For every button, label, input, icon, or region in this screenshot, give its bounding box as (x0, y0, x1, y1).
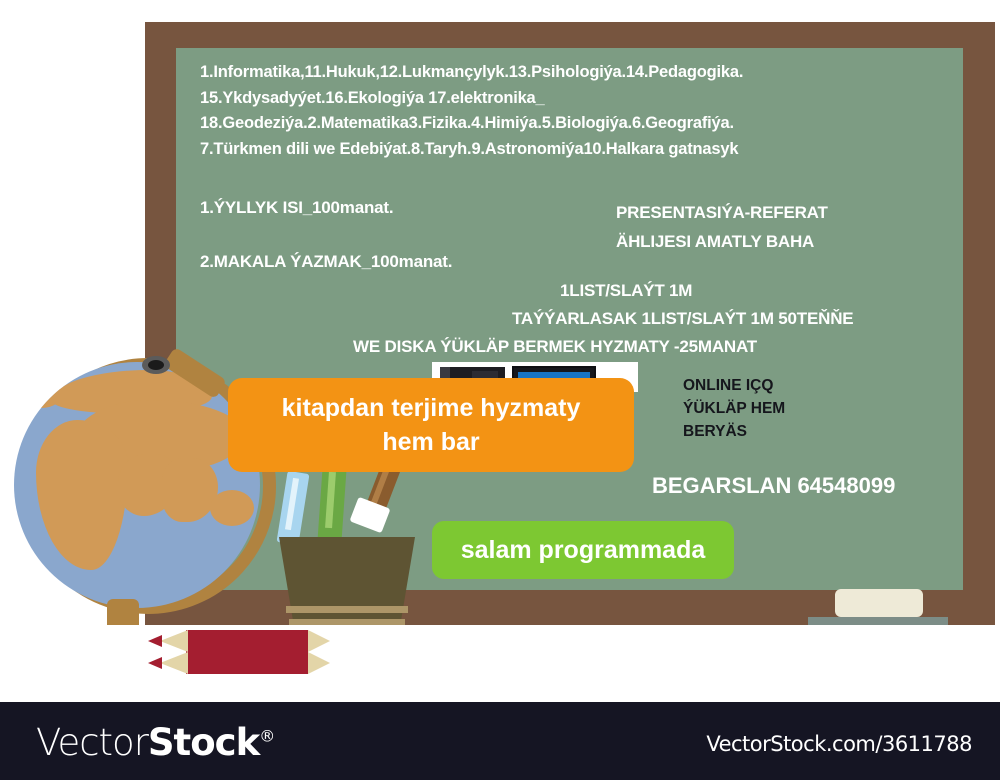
registered-trademark-icon: ® (259, 727, 274, 746)
pencil-end (308, 630, 330, 652)
logo-text-bold: Stock (148, 721, 259, 764)
contact-phone-line: BEGARSLAN 64548099 (652, 473, 895, 499)
orange-callout-line-2: hem bar (382, 425, 479, 459)
orange-callout-line-1: kitapdan terjime hyzmaty (282, 391, 581, 425)
orange-callout-button[interactable]: kitapdan terjime hyzmaty hem bar (228, 378, 634, 472)
logo-text-light: Vector (36, 721, 148, 764)
subject-list: 1.Informatika,11.Hukuk,12.Lukmançylyk.13… (200, 60, 743, 162)
price-line-yyllyk: 1.ÝYLLYK ISI_100manat. (200, 198, 393, 218)
pencil-body (186, 652, 308, 674)
slide-price-line-1: 1LIST/SLAÝT 1M (560, 281, 692, 301)
landmass-southeast-asia (210, 490, 254, 526)
landmass-india (162, 458, 218, 522)
pencil-lead-tip (148, 657, 162, 669)
presentation-line-2: ÄHLIJESI AMATLY BAHA (616, 227, 828, 256)
pencil-end (308, 652, 330, 674)
watermark-url: VectorStock.com/3611788 (706, 732, 972, 756)
online-service-block: ONLINE IÇQ ÝÜKLÄP HEM BERYÄS (683, 374, 785, 443)
subject-list-line-4: 7.Türkmen dili we Edebiýat.8.Taryh.9.Ast… (200, 137, 743, 163)
chalk-piece (835, 589, 923, 617)
watermark-bar: VectorStock® VectorStock.com/3611788 (0, 702, 1000, 780)
presentation-line-1: PRESENTASIÝA-REFERAT (616, 198, 828, 227)
subject-list-line-2: 15.Ykdysadyýet.16.Ekologiýa 17.elektroni… (200, 86, 743, 112)
landmass-africa (36, 420, 128, 570)
online-line-1: ONLINE IÇQ (683, 374, 785, 397)
online-line-2: ÝÜKLÄP HEM (683, 397, 785, 420)
vectorstock-logo: VectorStock® (36, 721, 274, 764)
pencil-body (186, 630, 308, 652)
globe-sphere (14, 362, 260, 608)
online-line-3: BERYÄS (683, 420, 785, 443)
poster-canvas: 1.Informatika,11.Hukuk,12.Lukmançylyk.13… (0, 0, 1000, 780)
pencil-lead-tip (148, 635, 162, 647)
slide-price-line-3: WE DISKA ÝÜKLÄP BERMEK HYZMATY -25MANAT (353, 337, 757, 357)
subject-list-line-3: 18.Geodeziýa.2.Matematika3.Fizika.4.Himi… (200, 111, 743, 137)
slide-price-line-2: TAÝÝARLASAK 1LIST/SLAÝT 1M 50TEŇŇE (512, 309, 853, 329)
red-pencil (148, 630, 334, 652)
globe-axis-hole (148, 360, 164, 370)
pencil-wood-tip (160, 652, 188, 674)
red-pencil (148, 652, 334, 674)
green-callout-label: salam programmada (461, 536, 706, 565)
price-line-makala: 2.MAKALA ÝAZMAK_100manat. (200, 252, 452, 272)
subject-list-line-1: 1.Informatika,11.Hukuk,12.Lukmançylyk.13… (200, 60, 743, 86)
pencil-wood-tip (160, 630, 188, 652)
presentation-block: PRESENTASIÝA-REFERAT ÄHLIJESI AMATLY BAH… (616, 198, 828, 256)
pencil-cup-stripe (286, 606, 408, 613)
green-callout-button[interactable]: salam programmada (432, 521, 734, 579)
